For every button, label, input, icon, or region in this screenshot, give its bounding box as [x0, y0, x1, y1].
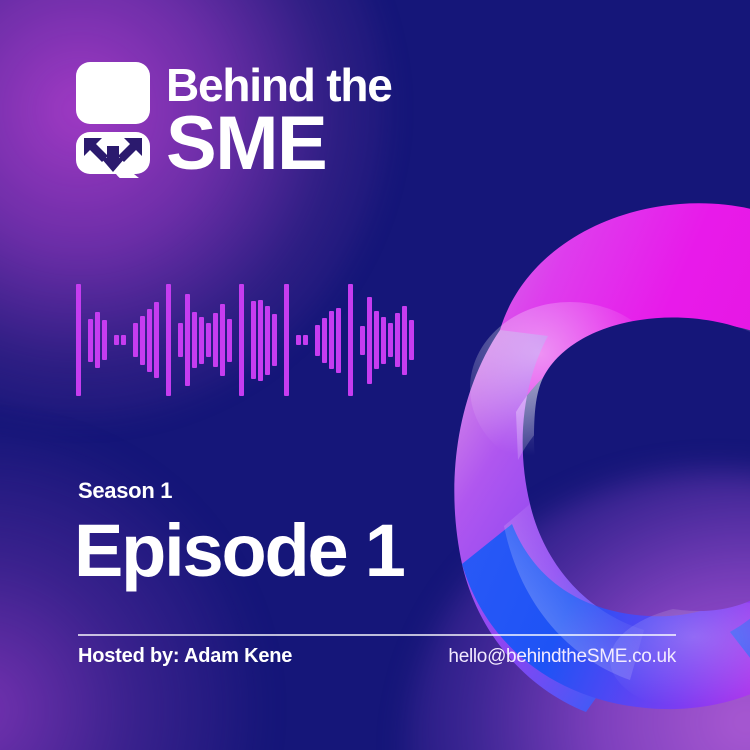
waveform-bar [121, 335, 126, 345]
waveform-bar [360, 326, 365, 355]
waveform-bar [265, 306, 270, 375]
waveform-bar [303, 335, 308, 345]
waveform-bar [402, 306, 407, 375]
waveform-bar [322, 318, 327, 363]
waveform-bar [95, 312, 100, 368]
waveform-bar [348, 284, 353, 396]
waveform-bar [213, 313, 218, 367]
audio-waveform [76, 284, 396, 396]
waveform-bar [272, 314, 277, 366]
footer-divider [78, 634, 676, 636]
waveform-bar [102, 320, 107, 360]
waveform-bar [251, 301, 256, 379]
host-label: Hosted by: Adam Kene [78, 645, 292, 668]
waveform-bar [76, 284, 81, 396]
footer: Hosted by: Adam Kene hello@behindtheSME.… [78, 645, 676, 668]
waveform-bar [315, 325, 320, 356]
waveform-bar [409, 320, 414, 360]
waveform-bar [388, 323, 393, 357]
waveform-bar [178, 323, 183, 357]
waveform-bar [239, 284, 244, 396]
contact-email[interactable]: hello@behindtheSME.co.uk [448, 646, 676, 668]
season-label: Season 1 [78, 478, 172, 504]
waveform-bar [166, 284, 171, 396]
waveform-bar [206, 323, 211, 357]
waveform-bar [395, 313, 400, 367]
waveform-bar [88, 319, 93, 362]
speech-bubble-arrows-logo-mark [74, 62, 152, 178]
podcast-cover-art: Behind the SME Season 1 Episode 1 Hosted… [0, 0, 750, 750]
waveform-bar [296, 335, 301, 345]
brand-logo: Behind the SME [74, 62, 392, 179]
waveform-bar [284, 284, 289, 396]
waveform-bar [192, 312, 197, 368]
waveform-bar [258, 300, 263, 381]
waveform-bar [336, 308, 341, 373]
brand-line-sme: SME [166, 109, 392, 180]
waveform-bar [220, 304, 225, 376]
waveform-bar [154, 302, 159, 378]
waveform-bar [133, 323, 138, 357]
waveform-bar [199, 317, 204, 364]
waveform-bar [329, 311, 334, 369]
brand-wordmark: Behind the SME [166, 62, 392, 179]
waveform-bar [140, 316, 145, 365]
waveform-bar [147, 309, 152, 372]
waveform-bar [227, 319, 232, 362]
episode-title: Episode 1 [74, 508, 404, 593]
waveform-bar [185, 294, 190, 386]
waveform-bar [367, 297, 372, 384]
waveform-bar [381, 317, 386, 364]
waveform-bar [374, 311, 379, 369]
waveform-bar [114, 335, 119, 345]
